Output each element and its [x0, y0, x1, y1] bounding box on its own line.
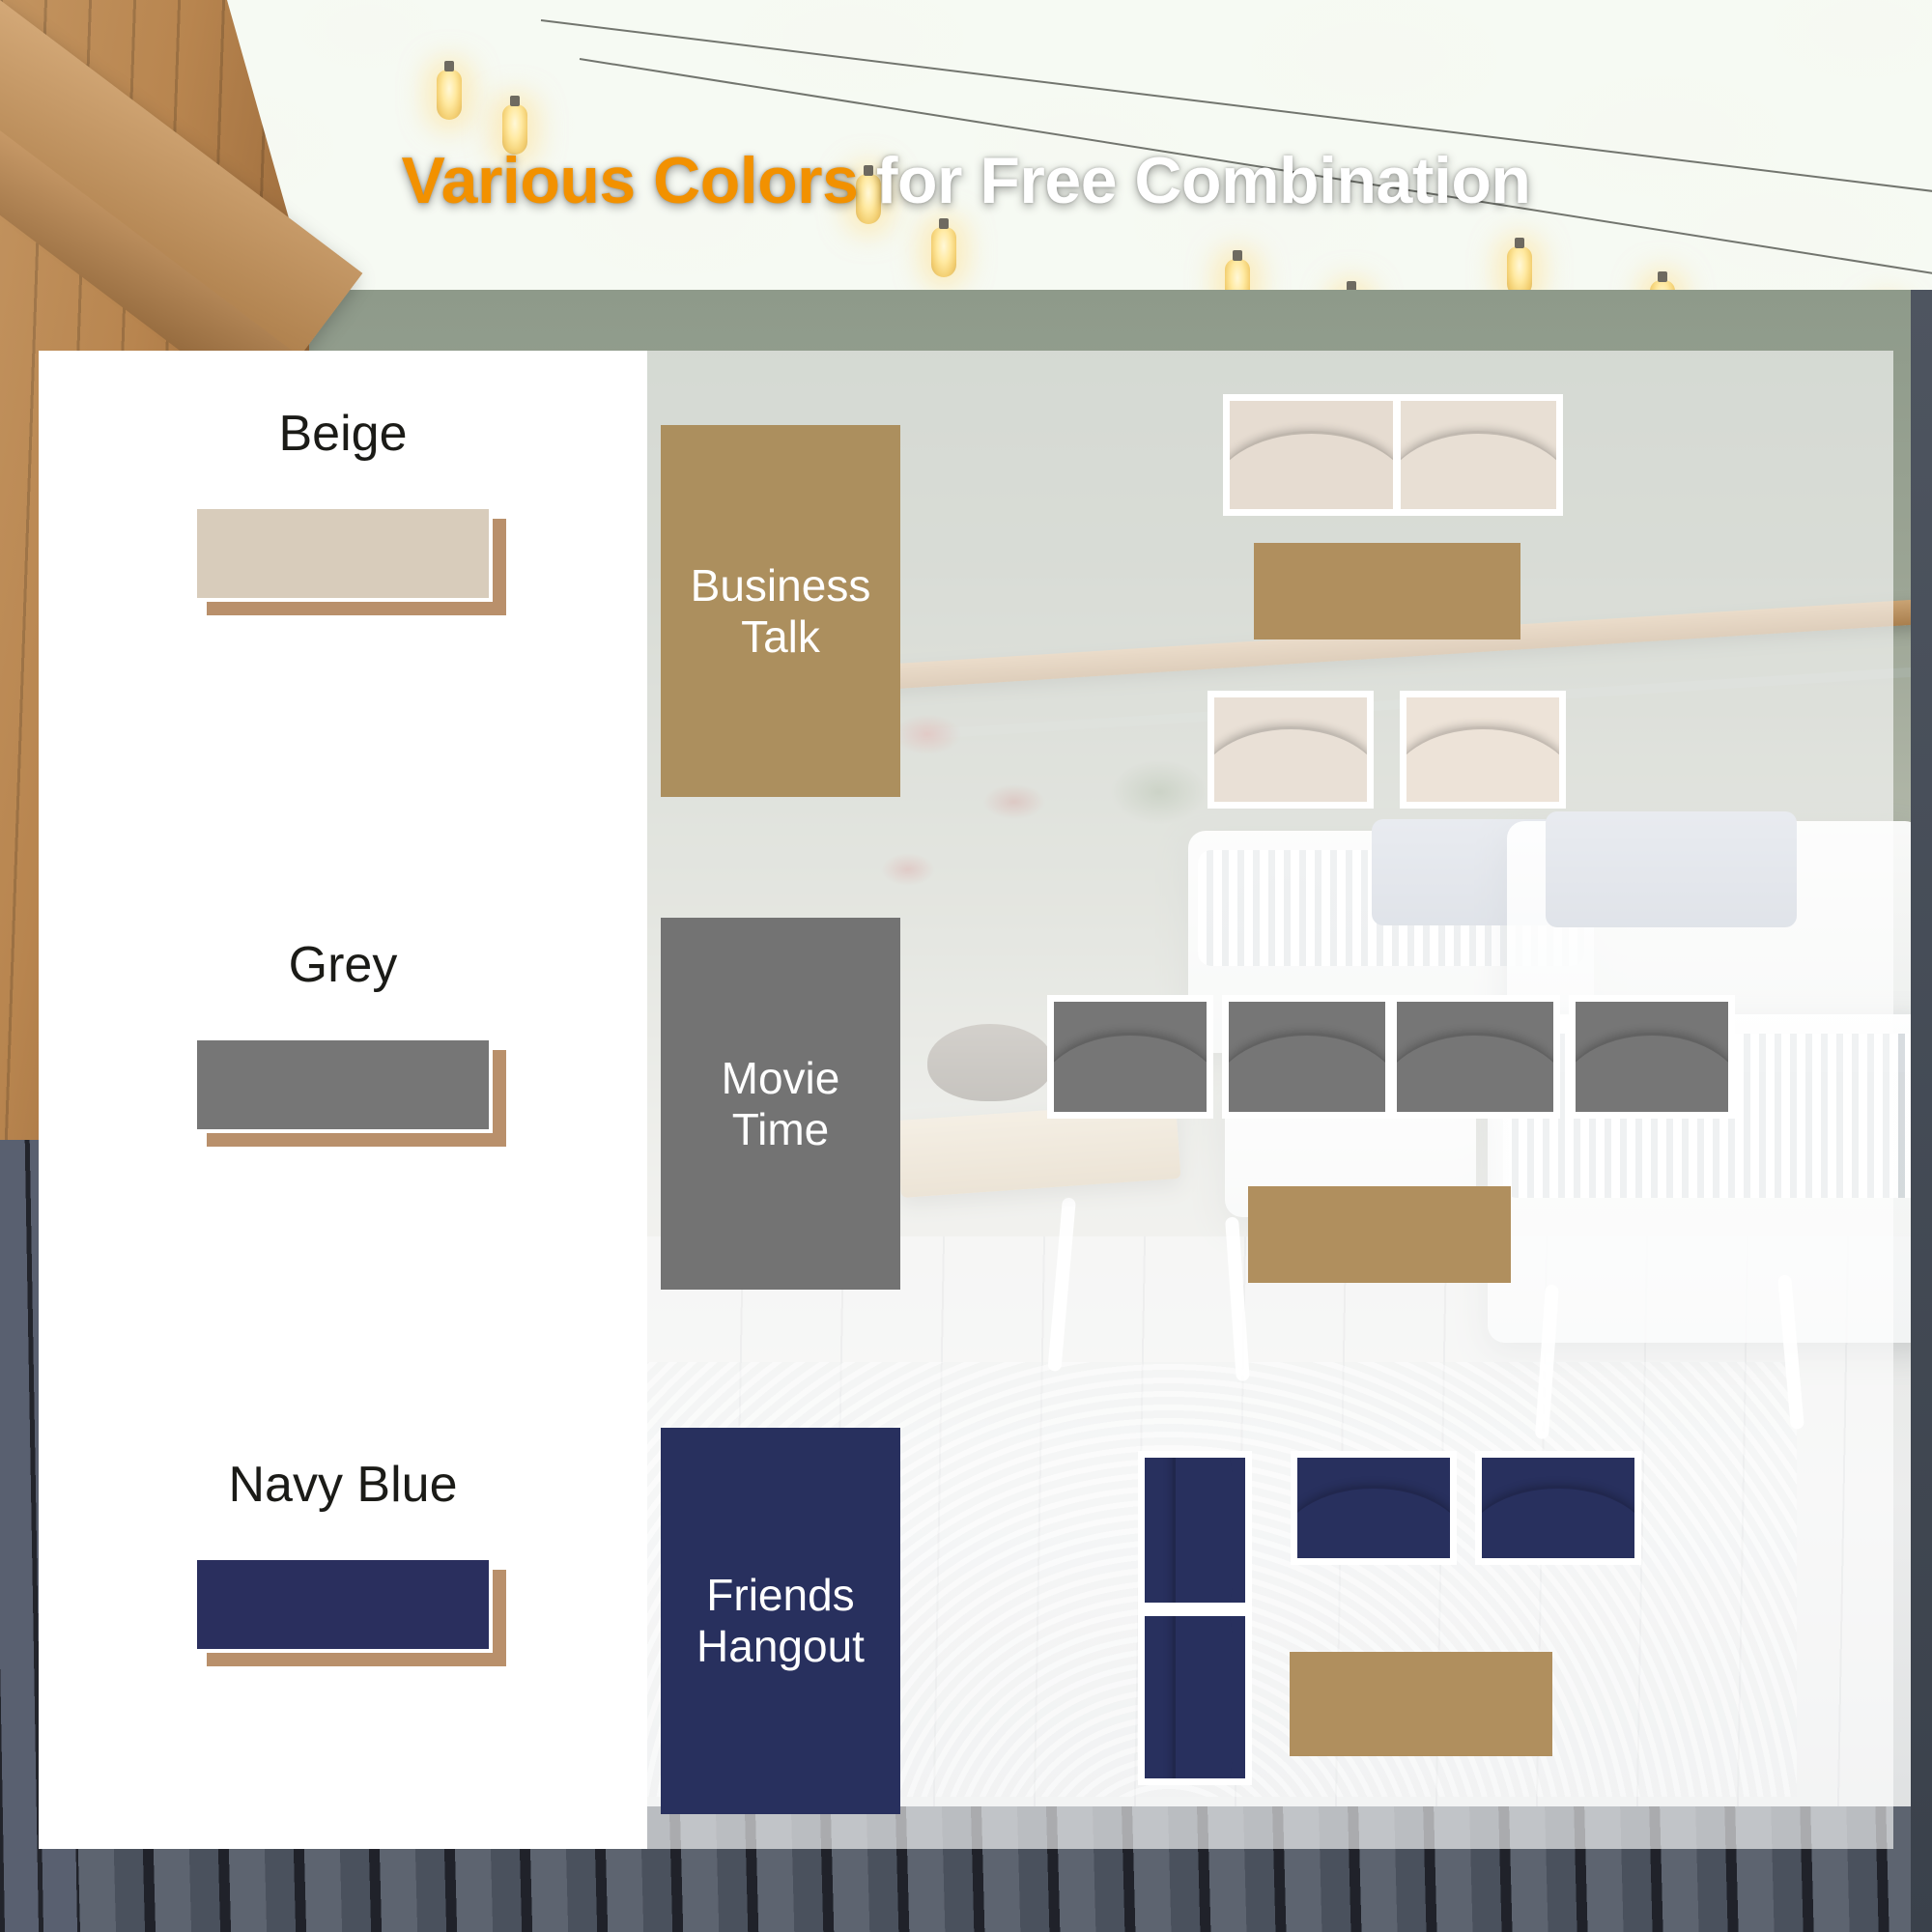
cushion-seam — [1173, 1451, 1235, 1609]
cushion-seam — [1223, 431, 1400, 497]
scene-block-friends-hangout[interactable]: Friends Hangout — [661, 1428, 900, 1814]
scene-line-1: Business — [691, 560, 871, 611]
cushion-navy[interactable] — [1475, 1451, 1641, 1565]
swatch-group-navy: Navy Blue — [39, 1460, 647, 1653]
cushion-seam — [1173, 1609, 1235, 1785]
scene-line-2: Time — [732, 1104, 830, 1154]
scene-line-2: Hangout — [696, 1621, 865, 1671]
cushion-seam — [1569, 1033, 1735, 1101]
cushion-navy-vertical[interactable] — [1138, 1609, 1252, 1785]
cushion-seam — [1394, 431, 1563, 497]
cushion-navy[interactable] — [1291, 1451, 1457, 1565]
swatch-navy[interactable] — [193, 1556, 493, 1653]
swatch-chip-grey — [193, 1037, 493, 1133]
cushion-beige[interactable] — [1207, 691, 1374, 809]
cushion-seam — [1400, 726, 1566, 791]
scene-block-friends-hangout-label: Friends Hangout — [696, 1570, 865, 1672]
scene-block-movie-time-label: Movie Time — [722, 1053, 840, 1155]
page-title: Various Colors for Free Combination — [0, 143, 1932, 218]
cushion-beige[interactable] — [1400, 691, 1566, 809]
swatch-group-beige: Beige — [39, 409, 647, 602]
cushion-grey[interactable] — [1222, 995, 1392, 1119]
swatch-chip-beige — [193, 505, 493, 602]
swatch-group-grey: Grey — [39, 940, 647, 1133]
scene-line-1: Movie — [722, 1053, 840, 1103]
cushion-grey[interactable] — [1569, 995, 1735, 1119]
swatch-beige[interactable] — [193, 505, 493, 602]
swatch-chip-navy — [193, 1556, 493, 1653]
cushion-beige[interactable] — [1394, 394, 1563, 516]
cushion-seam — [1291, 1486, 1457, 1548]
cushion-grey[interactable] — [1047, 995, 1213, 1119]
swatch-label-navy: Navy Blue — [39, 1460, 647, 1510]
swatch-label-beige: Beige — [39, 409, 647, 459]
scene-line-2: Talk — [741, 611, 820, 662]
light-bulb-icon — [931, 227, 956, 277]
cushion-seam — [1047, 1033, 1213, 1101]
cushion-seam — [1222, 1033, 1392, 1101]
cushion-seam — [1475, 1486, 1641, 1548]
table-grey-set[interactable] — [1248, 1186, 1511, 1283]
scene-block-business-talk-label: Business Talk — [691, 560, 871, 663]
title-plain-text: for Free Combination — [858, 144, 1530, 217]
cushion-seam — [1390, 1033, 1560, 1101]
light-bulb-icon — [437, 70, 462, 120]
swatch-grey[interactable] — [193, 1037, 493, 1133]
cushion-beige[interactable] — [1223, 394, 1400, 516]
scene-block-movie-time[interactable]: Movie Time — [661, 918, 900, 1290]
title-accent-text: Various Colors — [402, 144, 859, 217]
cushion-grey[interactable] — [1390, 995, 1560, 1119]
cushion-navy-vertical[interactable] — [1138, 1451, 1252, 1609]
swatch-label-grey: Grey — [39, 940, 647, 990]
scene-block-business-talk[interactable]: Business Talk — [661, 425, 900, 797]
table-navy-set[interactable] — [1290, 1652, 1552, 1756]
table-beige[interactable] — [1254, 543, 1520, 639]
cushion-seam — [1207, 726, 1374, 791]
color-swatch-panel: Beige Grey Navy Blue — [39, 351, 647, 1849]
photo-right-edge — [1911, 290, 1932, 1932]
scene-line-1: Friends — [706, 1570, 854, 1620]
